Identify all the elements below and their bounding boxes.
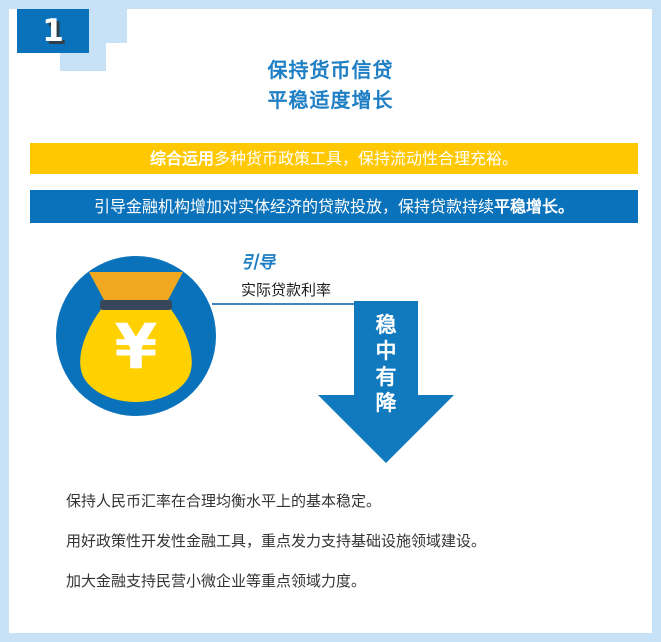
banner-credit-growth-bold: 平稳增长。 [494,199,574,215]
banner-credit-growth: 引导金融机构增加对实体经济的贷款投放，保持贷款持续平稳增长。 [30,190,638,223]
note-item-3: 加大金融支持民营小微企业等重点领域力度。 [66,572,636,590]
money-bag-icon: ¥ [56,256,216,416]
downward-trend-arrow: 稳 中 有 降 [318,301,454,463]
money-bag-illustration: ¥ [56,256,216,416]
decorative-square-right [89,9,127,43]
banner-liquidity-bold: 综合运用 [150,151,214,167]
page-title-line-2: 平稳适度增长 [0,85,661,115]
banner-credit-growth-text: 引导金融机构增加对实体经济的贷款投放，保持贷款持续 [94,199,494,215]
note-item-2: 用好政策性开发性金融工具，重点发力支持基础设施领域建设。 [66,532,636,550]
yen-symbol: ¥ [114,310,157,383]
arrow-down-icon [318,301,454,463]
guide-label: 引导 [241,253,275,273]
notes-list: 保持人民币汇率在合理均衡水平上的基本稳定。 用好政策性开发性金融工具，重点发力支… [66,492,636,590]
real-lending-rate-label: 实际贷款利率 [241,281,331,299]
note-item-1: 保持人民币汇率在合理均衡水平上的基本稳定。 [66,492,636,510]
page-title: 保持货币信贷 平稳适度增长 [0,55,661,115]
frame-border-bottom [0,633,661,642]
banner-liquidity: 综合运用多种货币政策工具，保持流动性合理充裕。 [30,143,638,174]
section-number-badge: 1 [17,9,89,53]
frame-border-top [0,0,661,9]
banner-liquidity-text: 多种货币政策工具，保持流动性合理充裕。 [214,151,518,167]
page-title-line-1: 保持货币信贷 [0,55,661,85]
infographic-page: 1 保持货币信贷 平稳适度增长 综合运用多种货币政策工具，保持流动性合理充裕。 … [0,0,661,642]
